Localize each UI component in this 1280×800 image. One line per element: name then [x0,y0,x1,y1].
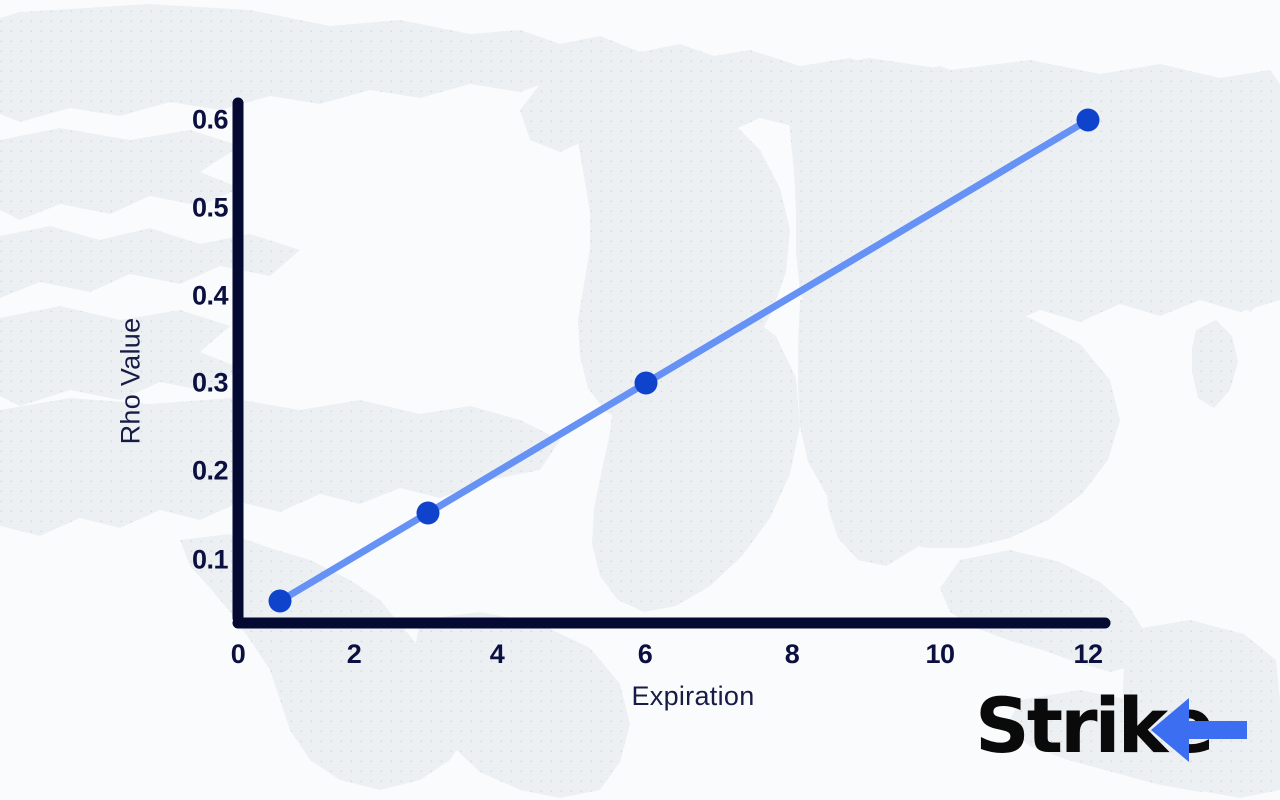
x-tick-label: 12 [1073,639,1102,670]
x-tick-label: 6 [638,639,653,670]
y-tick-label: 0.2 [192,456,228,487]
axis-labels-layer: 0.6 0.5 0.4 0.3 0.2 0.1 0 2 4 6 8 10 12 … [0,0,1280,800]
y-tick-label: 0.6 [192,105,228,136]
strike-logo: Strike [975,688,1265,768]
x-tick-label: 10 [925,639,954,670]
x-tick-label: 0 [231,639,246,670]
y-tick-label: 0.3 [192,368,228,399]
y-tick-label: 0.5 [192,193,228,224]
chart-canvas: 0.6 0.5 0.4 0.3 0.2 0.1 0 2 4 6 8 10 12 … [0,0,1280,800]
y-tick-label: 0.4 [192,281,228,312]
y-tick-label: 0.1 [192,545,228,576]
x-axis-title: Expiration [631,681,754,712]
x-tick-label: 8 [785,639,800,670]
y-axis-title: Rho Value [116,318,147,445]
x-tick-label: 2 [347,639,362,670]
left-arrow-icon [1147,698,1247,762]
x-tick-label: 4 [490,639,505,670]
